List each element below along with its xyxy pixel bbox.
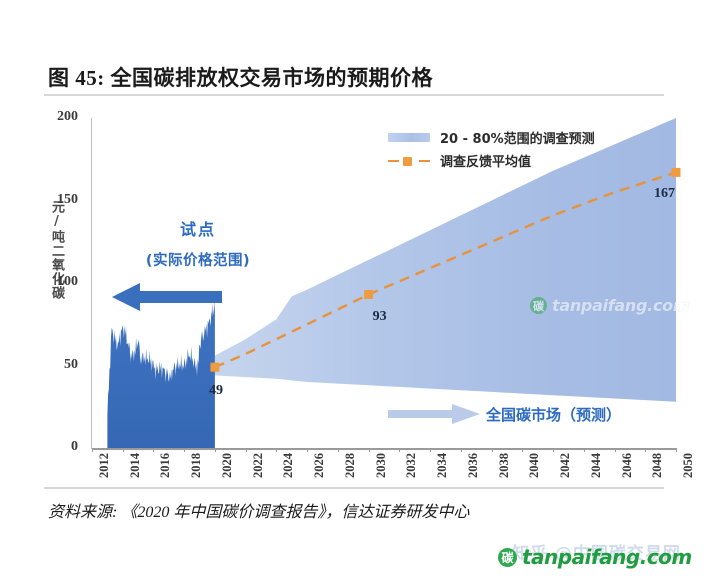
y-tick-label: 200: [38, 109, 78, 125]
band-swatch-icon: [388, 133, 430, 142]
pilot-annotation: 试点 (实际价格范围): [118, 216, 278, 270]
x-tick-label: 2032: [404, 453, 419, 478]
legend-item-band: 20 - 80%范围的调查预测: [388, 126, 638, 149]
tanpaifang-logo-bottom-icon: 碳: [498, 548, 517, 567]
x-tick-mark: [123, 448, 124, 452]
footer-divider: [44, 487, 664, 489]
mean-point-marker: [672, 168, 681, 177]
x-tick-mark: [492, 448, 493, 452]
watermark-mid-text: tanpaifang.com: [552, 296, 689, 315]
watermark-bottom: 碳 tanpaifang.com: [498, 545, 692, 569]
x-tick-label: 2048: [650, 453, 665, 478]
x-tick-mark: [645, 448, 646, 452]
watermark-mid: 碳 tanpaifang.com: [530, 296, 689, 315]
x-tick-mark: [553, 448, 554, 452]
legend-mean-label: 调查反馈平均值: [440, 151, 531, 170]
x-tick-mark: [461, 448, 462, 452]
x-tick-label: 2044: [589, 453, 604, 478]
x-tick-label: 2046: [620, 453, 635, 478]
x-tick-label: 2018: [189, 453, 204, 478]
x-tick-mark: [92, 448, 93, 452]
x-tick-mark: [307, 448, 308, 452]
mean-point-marker: [210, 363, 219, 372]
x-tick-label: 2036: [466, 453, 481, 478]
data-label: 167: [654, 186, 675, 202]
tanpaifang-logo-icon: 碳: [530, 297, 547, 314]
x-tick-label: 2020: [220, 453, 235, 478]
data-label: 93: [373, 309, 387, 325]
dashed-line-swatch-icon: [388, 155, 430, 167]
x-tick-label: 2016: [158, 453, 173, 478]
x-tick-label: 2014: [128, 453, 143, 478]
pilot-price-range-fill: [107, 300, 214, 448]
pilot-annotation-line1: 试点: [118, 216, 278, 240]
x-tick-label: 2022: [251, 453, 266, 478]
x-tick-label: 2026: [312, 453, 327, 478]
title-divider: [44, 94, 664, 96]
pilot-annotation-line2: (实际价格范围): [118, 249, 278, 270]
x-tick-label: 2050: [681, 453, 696, 478]
x-tick-mark: [215, 448, 216, 452]
x-tick-mark: [615, 448, 616, 452]
x-tick-label: 2038: [497, 453, 512, 478]
y-tick-label: 150: [38, 192, 78, 208]
legend: 20 - 80%范围的调查预测 调查反馈平均值: [388, 126, 638, 172]
x-tick-mark: [246, 448, 247, 452]
x-tick-label: 2030: [374, 453, 389, 478]
pilot-price-series: [107, 300, 214, 448]
x-tick-label: 2040: [527, 453, 542, 478]
mean-point-marker: [364, 290, 373, 299]
x-tick-label: 2042: [558, 453, 573, 478]
y-tick-label: 0: [38, 439, 78, 455]
arrow-left-icon: [110, 283, 222, 311]
x-tick-label: 2012: [97, 453, 112, 478]
x-tick-label: 2028: [343, 453, 358, 478]
x-tick-mark: [184, 448, 185, 452]
y-tick-label: 50: [38, 357, 78, 373]
watermark-bottom-text: tanpaifang.com: [522, 545, 692, 569]
legend-item-mean: 调查反馈平均值: [388, 149, 638, 172]
arrow-right-icon: [388, 404, 480, 424]
x-tick-mark: [584, 448, 585, 452]
x-tick-mark: [276, 448, 277, 452]
legend-band-label: 20 - 80%范围的调查预测: [440, 128, 595, 147]
figure-page: 图 45: 全国碳排放权交易市场的预期价格 元/吨二氧化碳 0501001502…: [0, 0, 704, 579]
x-tick-label: 2034: [435, 453, 450, 478]
x-axis-line: [92, 448, 676, 450]
x-tick-mark: [430, 448, 431, 452]
x-tick-mark: [338, 448, 339, 452]
x-tick-label: 2024: [281, 453, 296, 478]
x-tick-mark: [522, 448, 523, 452]
x-tick-mark: [399, 448, 400, 452]
data-label: 49: [209, 383, 223, 399]
x-tick-mark: [676, 448, 677, 452]
x-tick-mark: [153, 448, 154, 452]
market-forecast-annotation: 全国碳市场（预测）: [486, 404, 621, 425]
page-title: 图 45: 全国碳排放权交易市场的预期价格: [48, 62, 433, 92]
y-tick-label: 100: [38, 274, 78, 290]
source-note: 资料来源: 《2020 年中国碳价调查报告》，信达证券研发中心: [48, 498, 469, 522]
x-tick-mark: [369, 448, 370, 452]
